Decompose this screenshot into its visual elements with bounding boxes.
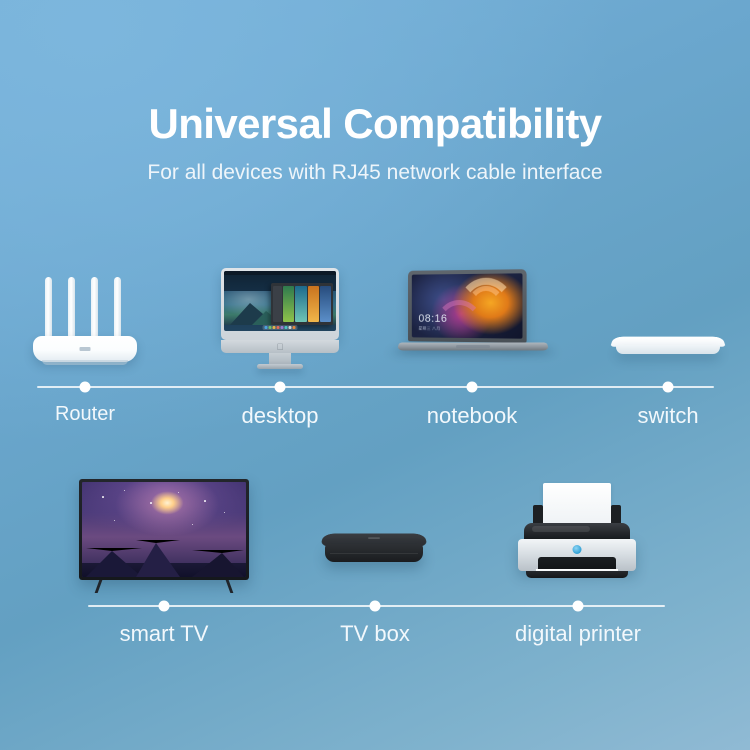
- tv-wallpaper-mountain: [192, 550, 244, 577]
- apple-logo-icon: : [277, 343, 284, 352]
- device-digital-printer: [512, 483, 642, 583]
- router-antenna: [68, 277, 75, 339]
- router-body: [33, 336, 137, 362]
- laptop-trackpad: [456, 345, 490, 348]
- printer-base: [526, 571, 628, 578]
- tv-box-front-panel: [325, 544, 423, 562]
- imac-chin: : [221, 340, 339, 353]
- dock-icon: [269, 326, 272, 329]
- router-antenna: [91, 277, 98, 339]
- wallpaper-star: [224, 512, 225, 513]
- imac-window-sidebar: [273, 286, 282, 322]
- wallpaper-star: [204, 500, 206, 502]
- dock-icon: [289, 326, 292, 329]
- device-router: [33, 272, 137, 362]
- connector-dot-smart-tv: [159, 601, 170, 612]
- laptop-base: [397, 343, 550, 351]
- router-antenna: [114, 277, 121, 339]
- router-antenna: [45, 277, 52, 339]
- caption-tv-box: TV box: [340, 621, 410, 647]
- device-notebook: 08:16 星期三 八月: [398, 270, 548, 362]
- laptop-lid: 08:16 星期三 八月: [408, 269, 527, 343]
- connector-dot-tv-box: [370, 601, 381, 612]
- caption-switch: switch: [637, 403, 698, 429]
- tv-leg: [226, 580, 234, 593]
- tv-wallpaper-mountain: [136, 540, 180, 577]
- device-switch: [612, 332, 724, 362]
- photo-thumbnail: [308, 286, 319, 322]
- printer-paper-sheet: [543, 483, 611, 527]
- wallpaper-star: [192, 524, 193, 525]
- wallpaper-star: [102, 496, 104, 498]
- connector-dot-notebook: [467, 382, 478, 393]
- tv-wallpaper-mountain: [86, 548, 142, 577]
- wallpaper-star: [150, 502, 152, 504]
- tv-leg: [95, 580, 103, 593]
- laptop-screen: 08:16 星期三 八月: [412, 273, 523, 338]
- wallpaper-star: [178, 492, 179, 493]
- connector-dot-desktop: [275, 382, 286, 393]
- caption-desktop: desktop: [241, 403, 318, 429]
- connector-line-row-1: [37, 386, 714, 388]
- imac-dock: [263, 325, 298, 330]
- photo-thumbnail: [283, 286, 294, 322]
- caption-smart-tv: smart TV: [120, 621, 209, 647]
- imac-display-frame: [221, 268, 339, 340]
- device-smart-tv: [79, 479, 249, 594]
- photo-thumbnail: [295, 286, 306, 322]
- laptop-clock-subtext: 星期三 八月: [418, 326, 440, 332]
- router-base-shadow: [42, 360, 128, 365]
- imac-screen: [224, 271, 336, 331]
- imac-menubar: [224, 271, 336, 275]
- page-title: Universal Compatibility: [0, 100, 750, 148]
- tv-bezel: [79, 479, 249, 580]
- connector-dot-digital-printer: [573, 601, 584, 612]
- laptop-clock: 08:16: [418, 313, 447, 325]
- caption-router: Router: [55, 403, 115, 426]
- imac-stand-base: [257, 364, 303, 369]
- dock-icon: [273, 326, 276, 329]
- tv-box-logo-icon: [368, 537, 380, 539]
- dock-icon: [285, 326, 288, 329]
- printer-power-indicator-icon: [573, 545, 582, 554]
- imac-photo-window: [271, 283, 333, 325]
- product-infographic: Universal Compatibility For all devices …: [0, 0, 750, 750]
- switch-front-panel: [616, 345, 720, 354]
- page-subtitle: For all devices with RJ45 network cable …: [0, 161, 750, 185]
- tv-box-seam: [330, 553, 418, 554]
- device-tv-box: [322, 528, 426, 568]
- tv-screen: [82, 482, 246, 577]
- caption-notebook: notebook: [427, 403, 518, 429]
- device-desktop: : [221, 268, 339, 370]
- dock-icon: [293, 326, 296, 329]
- printer-body: [518, 539, 636, 571]
- wallpaper-star: [114, 520, 115, 521]
- dock-icon: [277, 326, 280, 329]
- connector-dot-router: [80, 382, 91, 393]
- caption-digital-printer: digital printer: [515, 621, 641, 647]
- connector-dot-switch: [663, 382, 674, 393]
- dock-icon: [281, 326, 284, 329]
- wallpaper-star: [124, 490, 125, 491]
- dock-icon: [265, 326, 268, 329]
- photo-thumbnail: [320, 286, 331, 322]
